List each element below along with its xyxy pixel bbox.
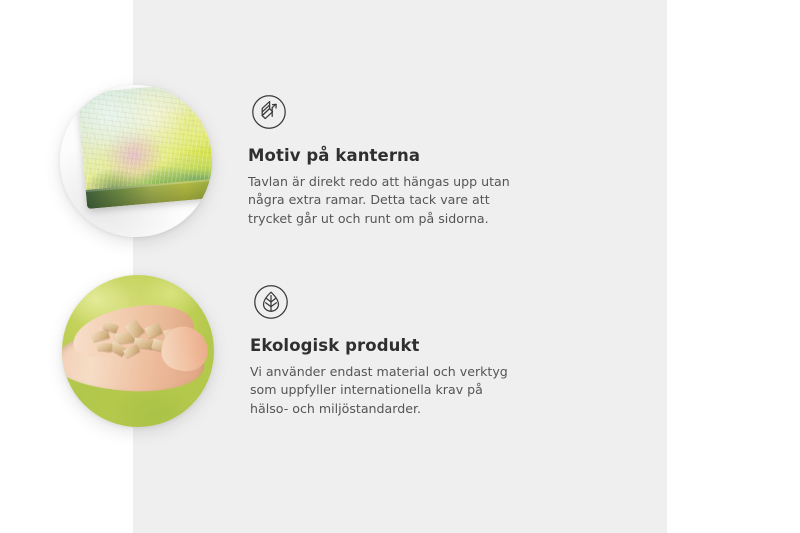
feature-text-eco: Vi använder endast material och verktyg … xyxy=(250,363,518,419)
canvas-block xyxy=(77,85,212,209)
feature-block-eco: Ekologisk produkt Vi använder endast mat… xyxy=(62,275,518,427)
canvas-wrapped-edge-icon xyxy=(248,91,290,133)
canvas-corner-photo xyxy=(60,85,212,237)
feature-title-eco: Ekologisk produkt xyxy=(250,337,518,356)
leaf-icon xyxy=(250,281,292,323)
hands-wood-chips-photo xyxy=(62,275,214,427)
feature-text-edges: Tavlan är direkt redo att hängas upp uta… xyxy=(248,173,516,229)
feature-block-edges: Motiv på kanterna Tavlan är direkt redo … xyxy=(60,85,516,237)
feature-title-edges: Motiv på kanterna xyxy=(248,147,516,166)
product-info-banner: Motiv på kanterna Tavlan är direkt redo … xyxy=(0,0,800,533)
content-panel xyxy=(133,0,667,533)
